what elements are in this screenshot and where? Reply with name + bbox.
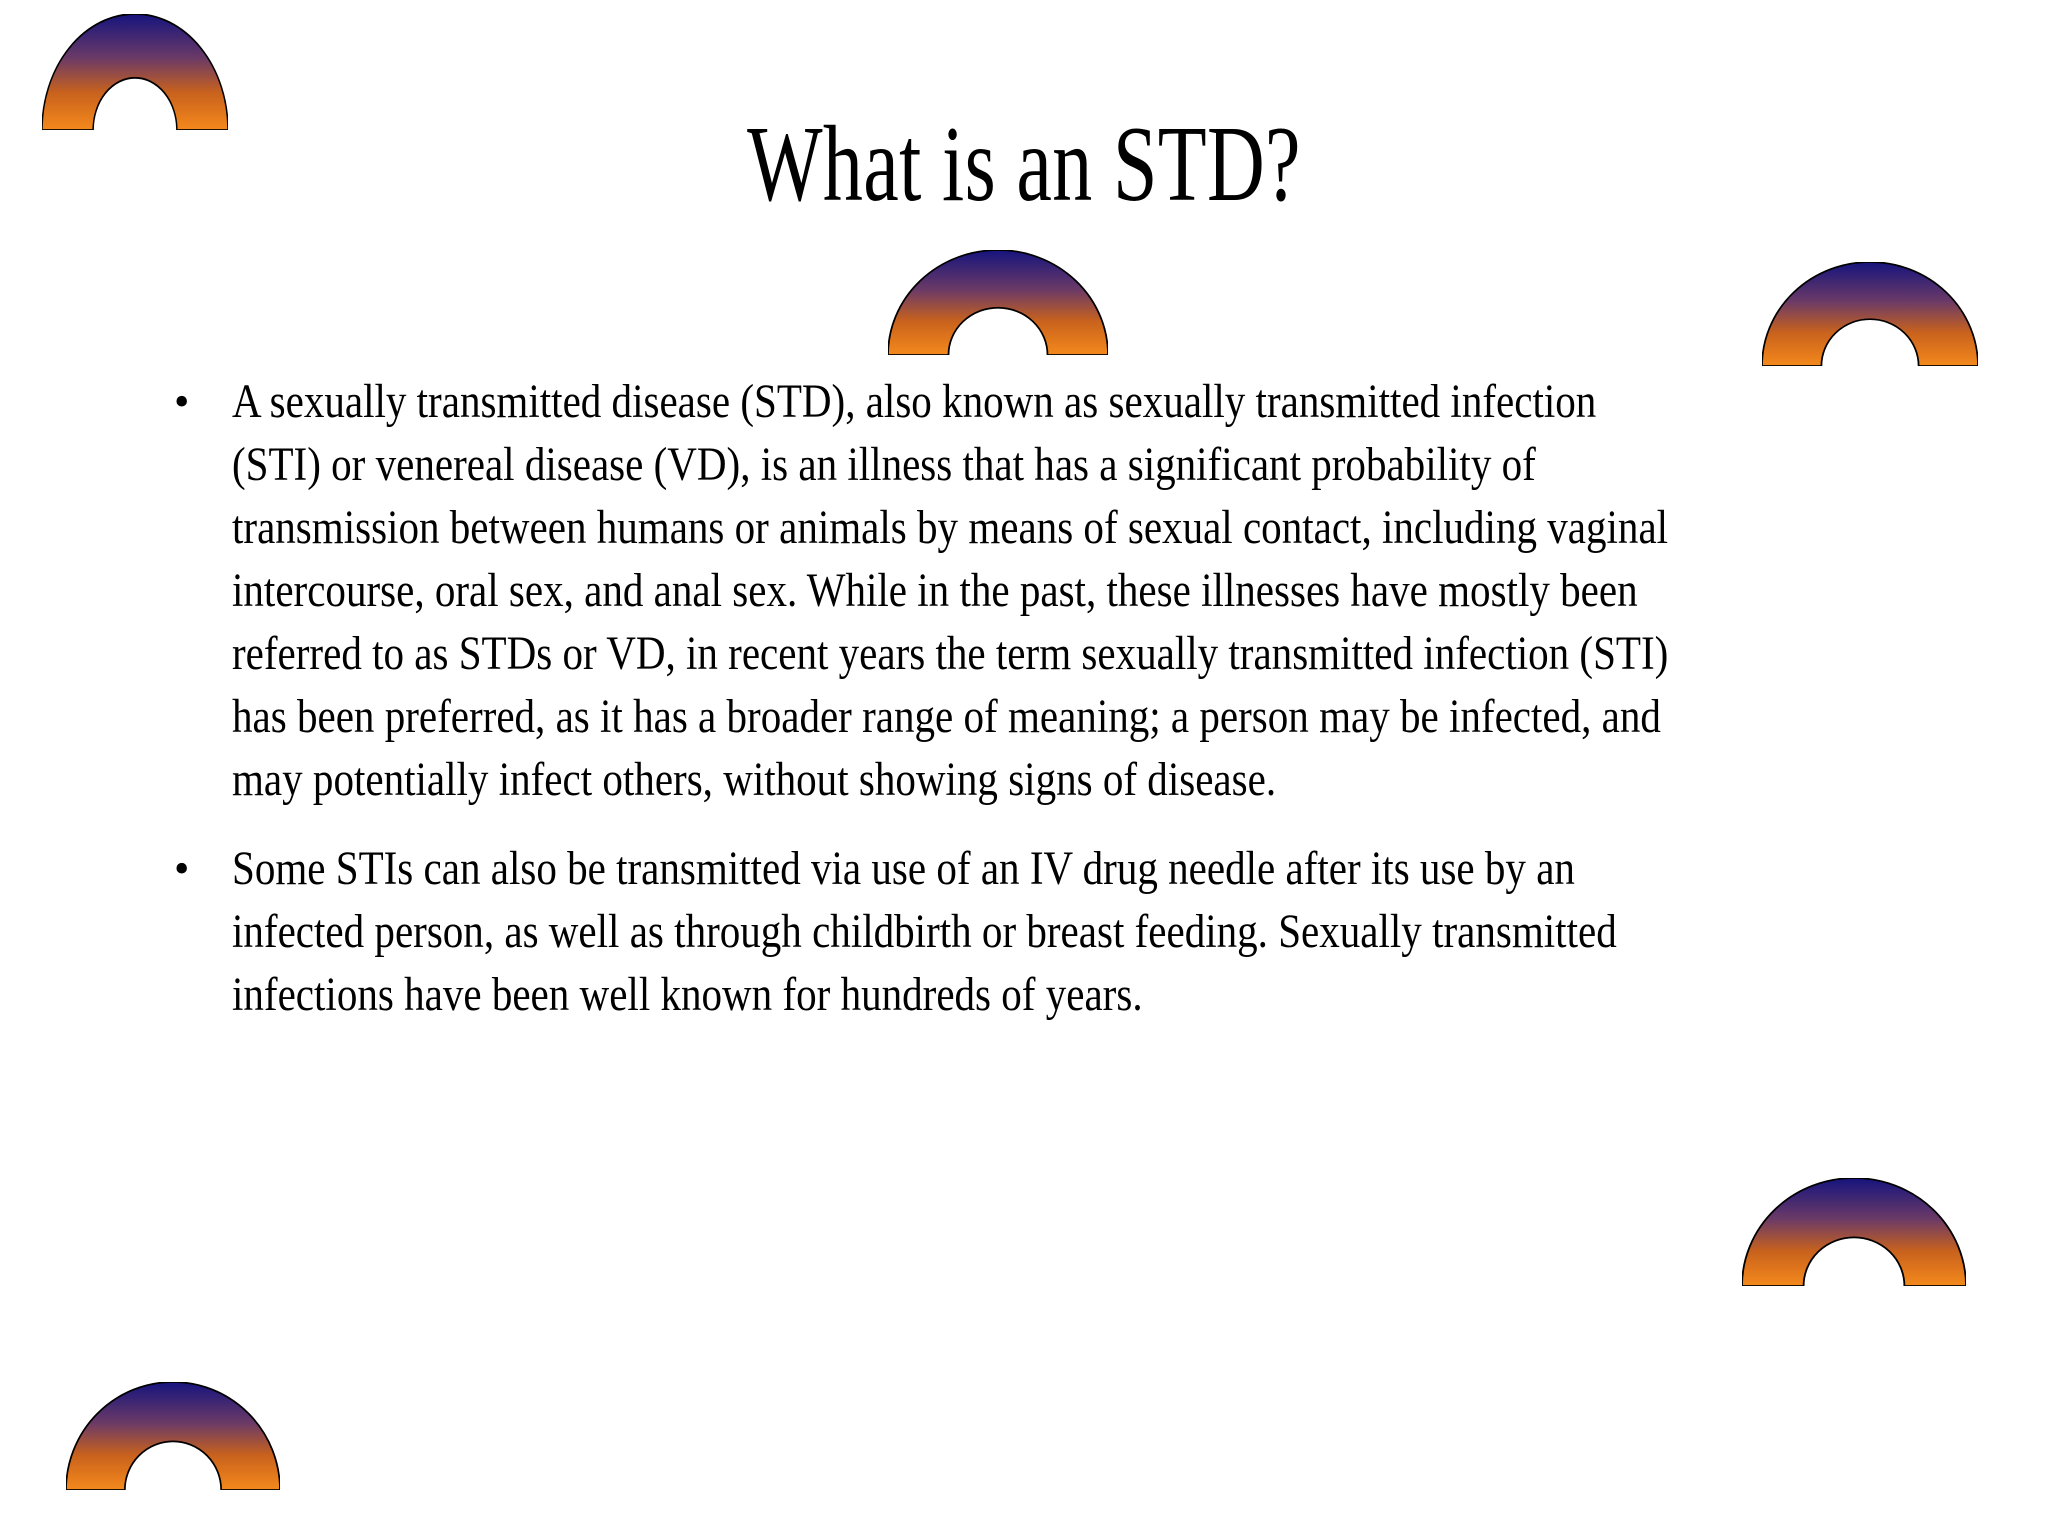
bullet-marker-icon: • bbox=[150, 370, 232, 433]
arch-bottom-right bbox=[1742, 1178, 1966, 1286]
bullet-text: A sexually transmitted disease (STD), al… bbox=[232, 370, 1675, 811]
arch-top-right bbox=[1762, 262, 1978, 366]
bullet-list: • A sexually transmitted disease (STD), … bbox=[150, 370, 1920, 1052]
bullet-text: Some STIs can also be transmitted via us… bbox=[232, 837, 1675, 1026]
list-item: • A sexually transmitted disease (STD), … bbox=[150, 370, 1920, 811]
arch-bottom-left bbox=[66, 1382, 280, 1490]
arch-title-center bbox=[888, 250, 1108, 355]
list-item: • Some STIs can also be transmitted via … bbox=[150, 837, 1920, 1026]
arch-top-left bbox=[42, 14, 228, 130]
slide-canvas: What is an STD? • A sexually transmitted… bbox=[0, 0, 2048, 1536]
bullet-marker-icon: • bbox=[150, 837, 232, 900]
page-title: What is an STD? bbox=[266, 108, 1782, 221]
